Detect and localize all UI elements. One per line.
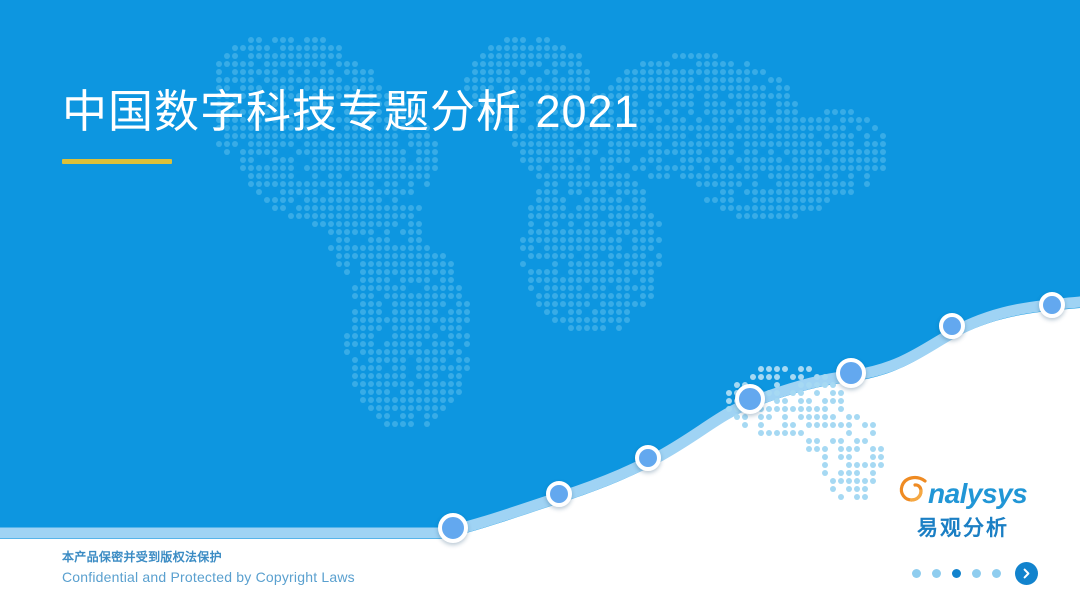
- presentation-cover-slide: 中国数字科技专题分析 2021 本产品保密并受到版权法保护 Confidenti…: [0, 0, 1080, 608]
- pagination-dot-5[interactable]: [992, 569, 1001, 578]
- footer-confidential-notice: 本产品保密并受到版权法保护 Confidential and Protected…: [62, 548, 355, 588]
- line-node-marker-3: [635, 445, 661, 471]
- pagination-dot-2[interactable]: [932, 569, 941, 578]
- logo-wordmark-text: nalysys: [928, 478, 1027, 510]
- analysys-a-swirl-icon: [898, 474, 932, 508]
- page-title: 中国数字科技专题分析 2021: [62, 84, 640, 140]
- footer-confidential-cn: 本产品保密并受到版权法保护: [62, 548, 355, 567]
- pagination-dot-4[interactable]: [972, 569, 981, 578]
- logo-wordmark: nalysys: [898, 476, 1028, 510]
- slide-pagination[interactable]: [912, 562, 1038, 585]
- next-slide-button[interactable]: [1015, 562, 1038, 585]
- line-node-marker-1: [438, 513, 468, 543]
- logo-company-cn: 易观分析: [898, 512, 1028, 542]
- footer-confidential-en: Confidential and Protected by Copyright …: [62, 567, 355, 589]
- line-node-marker-5: [836, 358, 866, 388]
- line-node-marker-7: [1039, 292, 1065, 318]
- line-node-marker-4: [735, 384, 765, 414]
- line-node-marker-6: [939, 313, 965, 339]
- line-node-marker-2: [546, 481, 572, 507]
- title-accent-rule: [62, 159, 172, 164]
- analysys-logo: nalysys 易观分析: [898, 476, 1028, 542]
- chevron-right-icon: [1021, 568, 1032, 579]
- pagination-dot-1[interactable]: [912, 569, 921, 578]
- title-block: 中国数字科技专题分析 2021: [62, 84, 640, 164]
- pagination-dot-3[interactable]: [952, 569, 961, 578]
